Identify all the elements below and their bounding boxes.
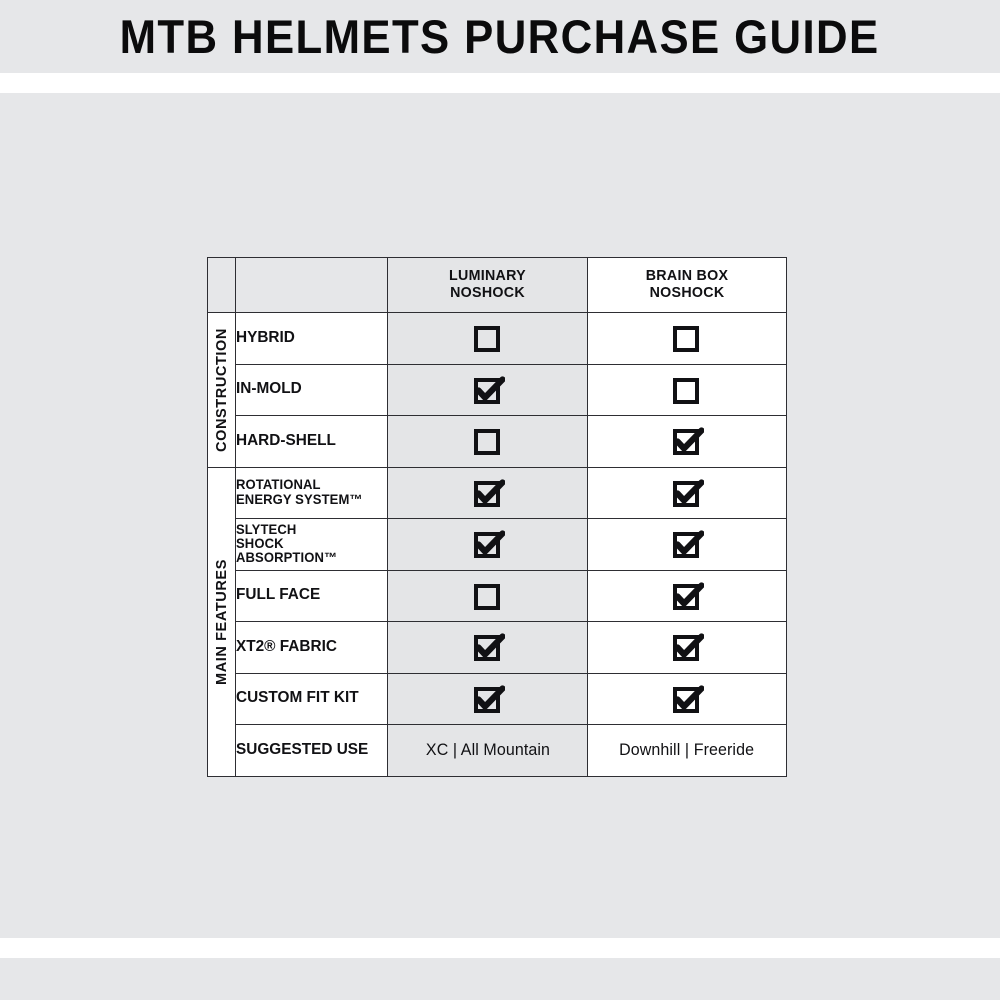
cell-suggested-use-brain-box: Downhill | Freeride	[588, 725, 787, 777]
group-label-text: MAIN FEATURES	[214, 559, 230, 685]
cell-suggested-use-luminary: XC | All Mountain	[388, 725, 588, 777]
cell-rotational-energy-system-luminary[interactable]	[388, 467, 588, 519]
checkbox-checked-icon[interactable]	[471, 682, 505, 716]
table-row: FULL FACE	[208, 570, 787, 622]
checkbox-unchecked-icon[interactable]	[670, 373, 704, 407]
feature-label-line2: ENERGY SYSTEM™	[236, 493, 381, 507]
feature-label-line1: XT2® FABRIC	[236, 639, 381, 656]
table-row: SLYTECH SHOCK ABSORPTION™	[208, 519, 787, 571]
corner-blank-cell	[208, 258, 236, 313]
page-title: MTB HELMETS PURCHASE GUIDE	[120, 13, 880, 60]
checkbox-unchecked-icon[interactable]	[471, 579, 505, 613]
cell-hybrid-luminary[interactable]	[388, 313, 588, 365]
checkmark-icon	[471, 682, 505, 716]
product-header-brain-box: BRAIN BOX NOSHOCK	[588, 258, 787, 313]
product-name-line1: BRAIN BOX	[593, 268, 781, 285]
cell-full-face-brain-box[interactable]	[588, 570, 787, 622]
comparison-table-wrapper: LUMINARY NOSHOCK BRAIN BOX NOSHOCK CONST…	[207, 257, 787, 777]
suggested-use-value: XC | All Mountain	[425, 741, 549, 760]
guide-page: MTB HELMETS PURCHASE GUIDE LUMINARY NOSH…	[0, 0, 1000, 1000]
checkbox-checked-icon[interactable]	[471, 476, 505, 510]
cell-slytech-shock-absorption-brain-box[interactable]	[588, 519, 787, 571]
band-separator-bottom	[0, 938, 1000, 958]
feature-label-line2: SHOCK ABSORPTION™	[236, 537, 381, 566]
checkmark-icon	[670, 476, 704, 510]
checkbox-checked-icon[interactable]	[670, 630, 704, 664]
helmet-comparison-table: LUMINARY NOSHOCK BRAIN BOX NOSHOCK CONST…	[207, 257, 787, 777]
checkbox-checked-icon[interactable]	[471, 630, 505, 664]
checkbox-unchecked-icon[interactable]	[471, 321, 505, 355]
feature-label-in-mold: IN-MOLD	[236, 364, 388, 416]
cell-in-mold-brain-box[interactable]	[588, 364, 787, 416]
product-name-line1: LUMINARY	[393, 268, 582, 285]
feature-label-xt2-fabric: XT2® FABRIC	[236, 622, 388, 674]
title-band: MTB HELMETS PURCHASE GUIDE	[0, 0, 1000, 73]
checkmark-icon	[670, 579, 704, 613]
checkmark-icon	[471, 373, 505, 407]
checkmark-icon	[670, 424, 704, 458]
checkbox-checked-icon[interactable]	[670, 476, 704, 510]
table-row: HARD-SHELL	[208, 416, 787, 468]
product-header-luminary: LUMINARY NOSHOCK	[388, 258, 588, 313]
feature-label-suggested-use: SUGGESTED USE	[236, 725, 388, 777]
feature-label-line1: SLYTECH	[236, 523, 381, 537]
product-name-line2: NOSHOCK	[593, 285, 781, 302]
group-label-main-features: MAIN FEATURES	[208, 467, 236, 776]
group-label-text: CONSTRUCTION	[214, 328, 230, 452]
feature-label-line1: FULL FACE	[236, 587, 381, 604]
feature-label-hard-shell: HARD-SHELL	[236, 416, 388, 468]
cell-hybrid-brain-box[interactable]	[588, 313, 787, 365]
cell-slytech-shock-absorption-luminary[interactable]	[388, 519, 588, 571]
checkmark-icon	[670, 682, 704, 716]
cell-hard-shell-brain-box[interactable]	[588, 416, 787, 468]
table-row: MAIN FEATURES ROTATIONAL ENERGY SYSTEM™	[208, 467, 787, 519]
checkbox-checked-icon[interactable]	[670, 424, 704, 458]
checkmark-icon	[471, 527, 505, 561]
feature-label-rotational-energy-system: ROTATIONAL ENERGY SYSTEM™	[236, 467, 388, 519]
checkbox-checked-icon[interactable]	[471, 373, 505, 407]
checkbox-unchecked-icon[interactable]	[471, 424, 505, 458]
corner-blank-cell-2	[236, 258, 388, 313]
cell-xt2-fabric-luminary[interactable]	[388, 622, 588, 674]
checkbox-checked-icon[interactable]	[670, 682, 704, 716]
feature-label-slytech-shock-absorption: SLYTECH SHOCK ABSORPTION™	[236, 519, 388, 571]
table-row: CONSTRUCTION HYBRID	[208, 313, 787, 365]
checkmark-icon	[471, 476, 505, 510]
feature-label-full-face: FULL FACE	[236, 570, 388, 622]
cell-custom-fit-kit-brain-box[interactable]	[588, 673, 787, 725]
table-header-row: LUMINARY NOSHOCK BRAIN BOX NOSHOCK	[208, 258, 787, 313]
feature-label-line1: HYBRID	[236, 330, 381, 347]
feature-label-hybrid: HYBRID	[236, 313, 388, 365]
cell-custom-fit-kit-luminary[interactable]	[388, 673, 588, 725]
table-row: IN-MOLD	[208, 364, 787, 416]
cell-xt2-fabric-brain-box[interactable]	[588, 622, 787, 674]
band-separator-top	[0, 73, 1000, 93]
feature-label-line1: ROTATIONAL	[236, 478, 381, 492]
feature-label-line1: HARD-SHELL	[236, 433, 381, 450]
checkmark-icon	[471, 630, 505, 664]
feature-label-line1: IN-MOLD	[236, 381, 381, 398]
group-label-construction: CONSTRUCTION	[208, 313, 236, 468]
checkbox-checked-icon[interactable]	[471, 527, 505, 561]
footer-band	[0, 958, 1000, 1000]
checkbox-checked-icon[interactable]	[670, 579, 704, 613]
checkmark-icon	[670, 527, 704, 561]
cell-full-face-luminary[interactable]	[388, 570, 588, 622]
suggested-use-value: Downhill | Freeride	[620, 741, 755, 760]
checkbox-unchecked-icon[interactable]	[670, 321, 704, 355]
feature-label-line1: CUSTOM FIT KIT	[236, 690, 381, 707]
cell-hard-shell-luminary[interactable]	[388, 416, 588, 468]
table-row-suggested-use: SUGGESTED USE XC | All Mountain Downhill…	[208, 725, 787, 777]
table-row: CUSTOM FIT KIT	[208, 673, 787, 725]
checkmark-icon	[670, 630, 704, 664]
product-name-line2: NOSHOCK	[393, 285, 582, 302]
checkbox-checked-icon[interactable]	[670, 527, 704, 561]
feature-label-custom-fit-kit: CUSTOM FIT KIT	[236, 673, 388, 725]
cell-rotational-energy-system-brain-box[interactable]	[588, 467, 787, 519]
table-row: XT2® FABRIC	[208, 622, 787, 674]
feature-label-line1: SUGGESTED USE	[236, 742, 381, 759]
cell-in-mold-luminary[interactable]	[388, 364, 588, 416]
